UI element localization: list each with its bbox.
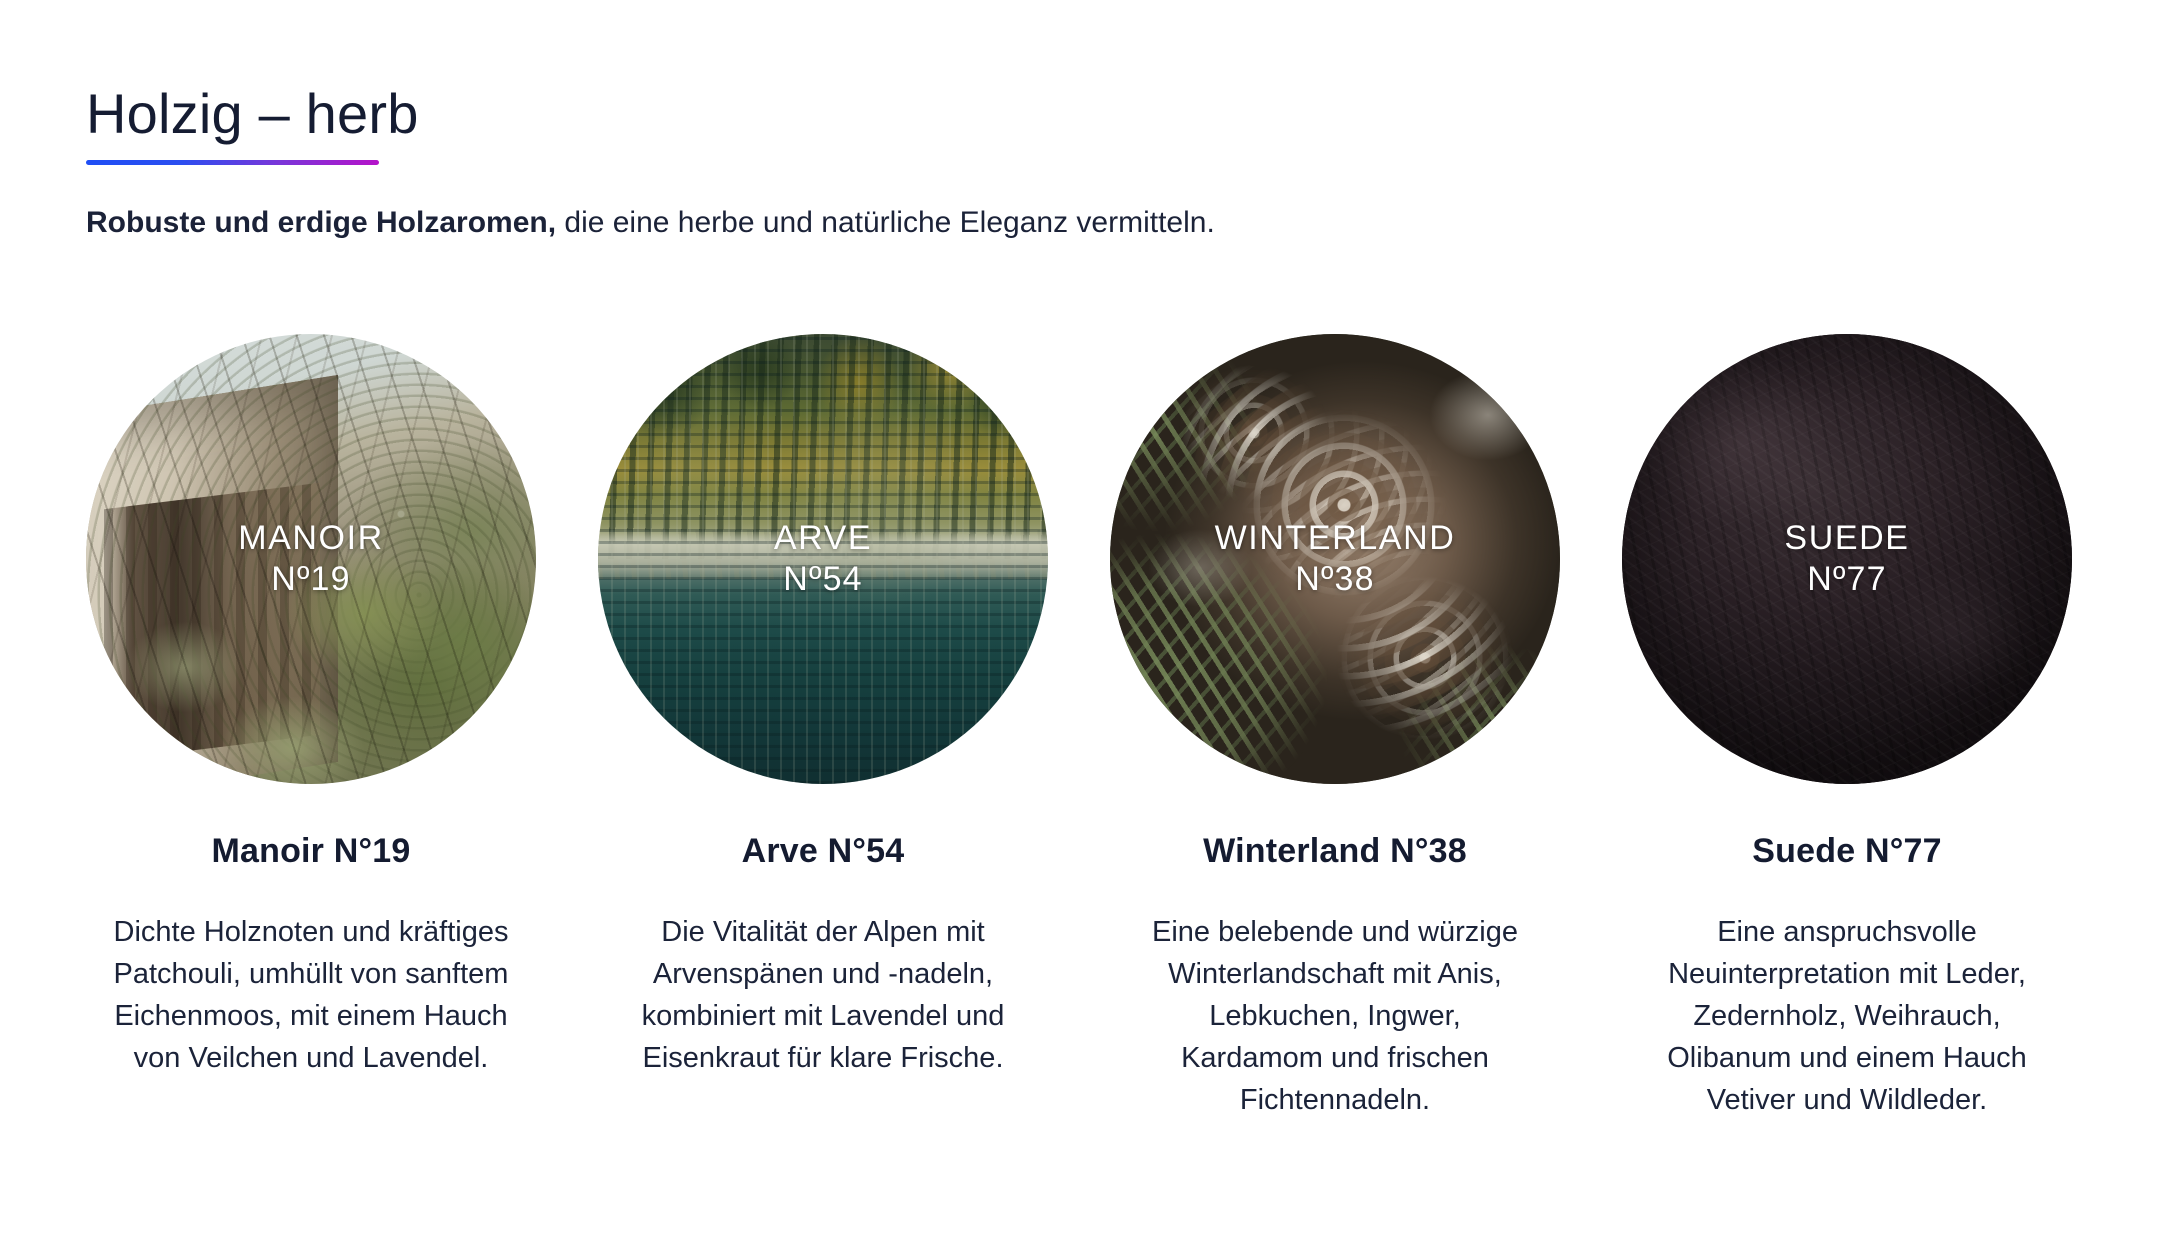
scent-title: Manoir N°19 xyxy=(211,784,410,871)
page-subtitle: Robuste und erdige Holzaromen, die eine … xyxy=(86,165,2074,242)
scent-card[interactable]: MANOIRNº19 Manoir N°19 Dichte Holznoten … xyxy=(86,334,536,1079)
page-title: Holzig – herb xyxy=(86,86,2074,160)
overlay-name: SUEDE xyxy=(1784,519,1909,557)
overlay-number: Nº19 xyxy=(238,559,384,600)
scent-description: Eine anspruchsvolle Neuinterpretation mi… xyxy=(1647,871,2047,1121)
overlay-name: MANOIR xyxy=(238,519,384,557)
scent-description: Eine belebende und würzige Winterlandsch… xyxy=(1135,871,1535,1121)
overlay-number: Nº77 xyxy=(1784,559,1909,600)
scent-image-manoir[interactable]: MANOIRNº19 xyxy=(86,334,536,784)
scent-family-page: Holzig – herb Robuste und erdige Holzaro… xyxy=(0,0,2160,1258)
subtitle-lead: Robuste und erdige Holzaromen, xyxy=(86,206,556,239)
image-overlay-label: WINTERLANDNº38 xyxy=(1215,518,1456,601)
overlay-number: Nº54 xyxy=(774,559,872,600)
scent-description: Die Vitalität der Alpen mit Arvenspänen … xyxy=(623,871,1023,1079)
scent-card[interactable]: SUEDENº77 Suede N°77 Eine anspruchsvolle… xyxy=(1622,334,2072,1121)
overlay-name: WINTERLAND xyxy=(1215,519,1456,557)
scent-title: Winterland N°38 xyxy=(1203,784,1467,871)
scent-image-winterland[interactable]: WINTERLANDNº38 xyxy=(1110,334,1560,784)
scent-title: Suede N°77 xyxy=(1752,784,1941,871)
scent-title: Arve N°54 xyxy=(742,784,905,871)
scent-image-suede[interactable]: SUEDENº77 xyxy=(1622,334,2072,784)
scent-card[interactable]: ARVENº54 Arve N°54 Die Vitalität der Alp… xyxy=(598,334,1048,1079)
scent-card[interactable]: WINTERLANDNº38 Winterland N°38 Eine bele… xyxy=(1110,334,1560,1121)
scent-card-grid: MANOIRNº19 Manoir N°19 Dichte Holznoten … xyxy=(86,242,2074,1121)
image-overlay-label: MANOIRNº19 xyxy=(238,518,384,601)
overlay-number: Nº38 xyxy=(1215,559,1456,600)
overlay-name: ARVE xyxy=(774,519,872,557)
page-header: Holzig – herb Robuste und erdige Holzaro… xyxy=(86,0,2074,242)
image-overlay-label: ARVENº54 xyxy=(774,518,872,601)
scent-image-arve[interactable]: ARVENº54 xyxy=(598,334,1048,784)
subtitle-rest: die eine herbe und natürliche Eleganz ve… xyxy=(556,206,1215,239)
image-overlay-label: SUEDENº77 xyxy=(1784,518,1909,601)
scent-description: Dichte Holznoten und kräftiges Patchouli… xyxy=(111,871,511,1079)
